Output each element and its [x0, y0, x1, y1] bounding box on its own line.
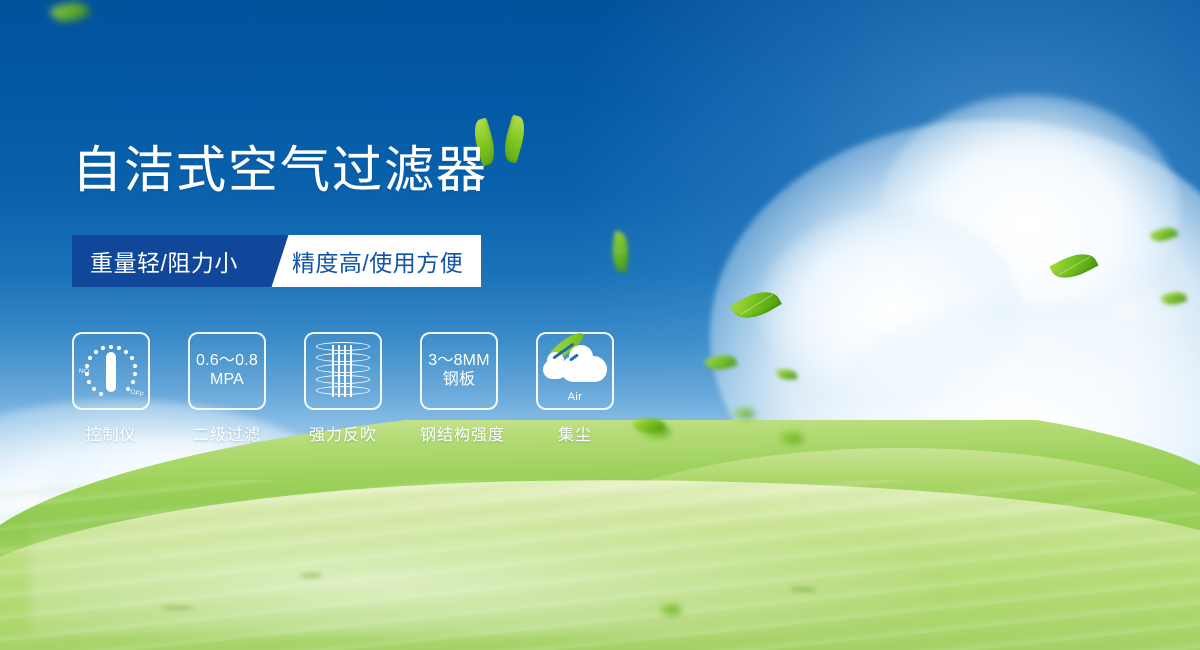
grass-field — [0, 420, 1200, 650]
page-title: 自洁式空气过滤器 — [72, 145, 488, 195]
feature-label: 二级过滤 — [188, 421, 266, 445]
subtitle-left-text: 重量轻/阻力小 — [90, 244, 238, 278]
air-label: Air — [568, 391, 583, 403]
feature-item-steel-strength[interactable]: 3～8MM 钢板 钢结构强度 — [420, 332, 498, 445]
gauge-needle — [106, 352, 116, 392]
pressure-range: 0.6～0.8 — [196, 352, 258, 371]
feature-label: 控制仪 — [72, 421, 150, 445]
air-cloud-icon: Air — [543, 342, 607, 400]
grass-highlight — [30, 506, 930, 636]
coil-ring — [316, 342, 370, 351]
feature-icon-row: NO OFF 控制仪 0.6～0.8 MPA 二级过滤 — [72, 332, 614, 445]
feature-label: 强力反吹 — [304, 421, 382, 445]
feature-label: 钢结构强度 — [420, 421, 498, 445]
coil-ring — [316, 375, 370, 384]
steel-thickness-range: 3～8MM — [428, 352, 489, 371]
subtitle-bar: 重量轻/阻力小 精度高/使用方便 — [72, 235, 481, 287]
feature-icon-box: NO OFF — [72, 332, 150, 410]
subtitle-right-segment: 精度高/使用方便 — [262, 235, 481, 287]
feature-icon-box: 0.6～0.8 MPA — [188, 332, 266, 410]
feature-item-controller[interactable]: NO OFF 控制仪 — [72, 332, 150, 445]
sprout-blade-right — [500, 115, 529, 164]
pressure-unit: MPA — [196, 371, 258, 390]
feature-item-dust-collection[interactable]: Air 集尘 — [536, 332, 614, 445]
subtitle-right-text: 精度高/使用方便 — [292, 244, 463, 278]
coil-ring — [316, 364, 370, 373]
steel-thickness-icon: 3～8MM 钢板 — [428, 352, 489, 390]
feature-icon-box: 3～8MM 钢板 — [420, 332, 498, 410]
cloud-shape-large — [561, 356, 607, 382]
coil-filter-icon — [316, 342, 370, 400]
grass-tuft — [160, 606, 194, 610]
feature-item-secondary-filter[interactable]: 0.6～0.8 MPA 二级过滤 — [188, 332, 266, 445]
coil-ring — [316, 386, 370, 395]
feature-label: 集尘 — [536, 421, 614, 445]
gauge-on-label: NO — [79, 368, 89, 375]
coil-ring — [316, 353, 370, 362]
subtitle-left-segment: 重量轻/阻力小 — [72, 235, 268, 287]
feature-icon-box: Air — [536, 332, 614, 410]
steel-plate-label: 钢板 — [428, 371, 489, 390]
feature-icon-box — [304, 332, 382, 410]
grass-tuft — [300, 573, 322, 578]
product-hero-banner: 自洁式空气过滤器 重量轻/阻力小 精度高/使用方便 — [0, 0, 1200, 650]
grass-tuft — [790, 587, 816, 592]
cloud-shape-small — [543, 360, 567, 379]
pressure-value-icon: 0.6～0.8 MPA — [196, 352, 258, 390]
feature-item-pulse-blowback[interactable]: 强力反吹 — [304, 332, 382, 445]
gauge-dial-icon: NO OFF — [79, 339, 143, 403]
